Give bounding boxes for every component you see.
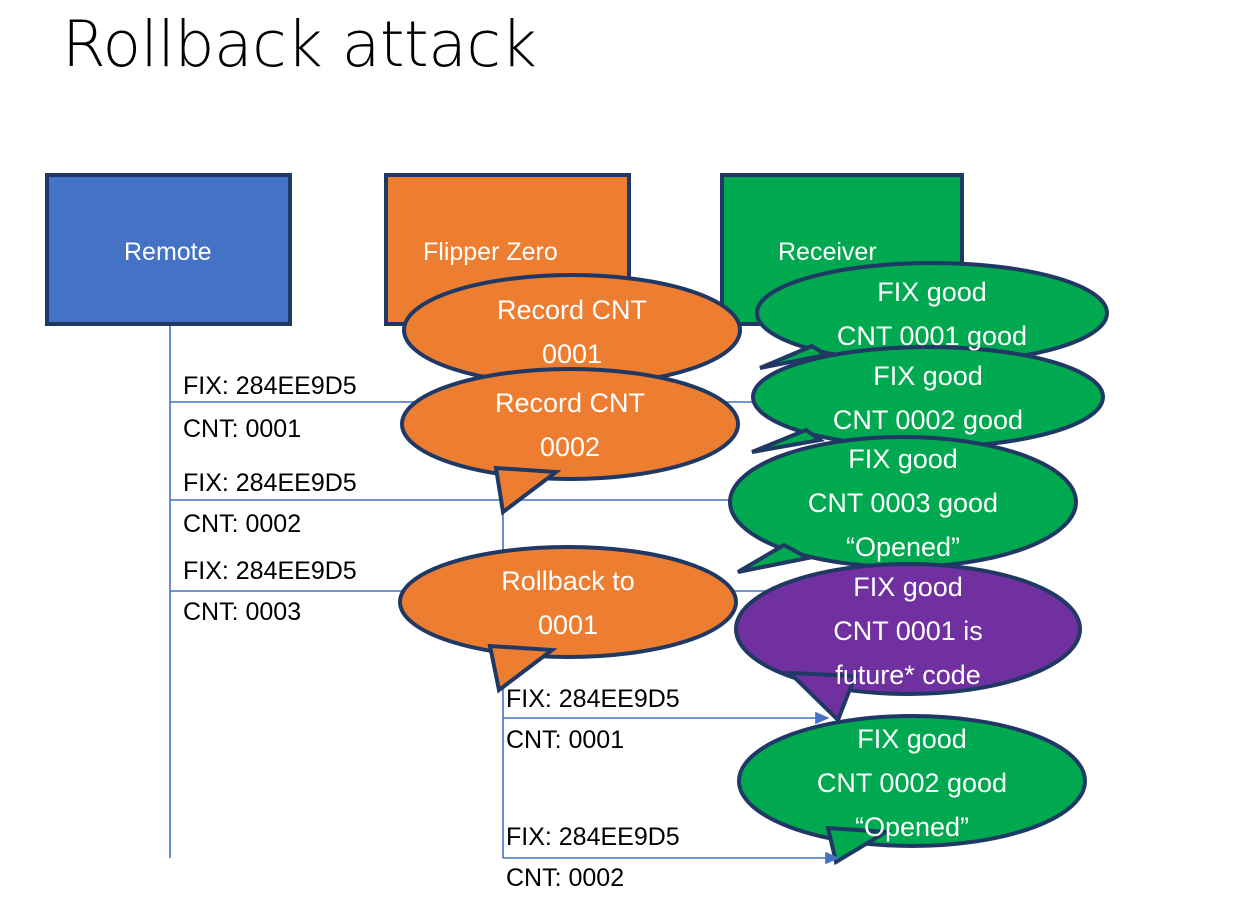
message-label-cnt-4: CNT: 0001 <box>506 726 624 755</box>
flipper-bubble-3[interactable] <box>400 547 736 690</box>
message-label-fix-5: FIX: 284EE9D5 <box>506 823 680 852</box>
message-label-fix-2: FIX: 284EE9D5 <box>183 469 357 498</box>
message-label-cnt-5: CNT: 0002 <box>506 864 624 893</box>
lane-label-receiver: Receiver <box>778 238 877 267</box>
message-label-fix-1: FIX: 284EE9D5 <box>183 372 357 401</box>
slide-canvas: Rollback attack Remote Flipper Zero Rece… <box>0 0 1233 898</box>
lane-label-remote: Remote <box>124 238 212 267</box>
message-label-cnt-2: CNT: 0002 <box>183 510 301 539</box>
flipper-bubble-2[interactable] <box>402 369 738 512</box>
message-label-cnt-1: CNT: 0001 <box>183 415 301 444</box>
receiver-bubble-3[interactable] <box>730 437 1076 572</box>
lane-label-flipper: Flipper Zero <box>423 238 558 267</box>
message-label-fix-4: FIX: 284EE9D5 <box>506 685 680 714</box>
message-label-cnt-3: CNT: 0003 <box>183 598 301 627</box>
page-title: Rollback attack <box>62 8 536 81</box>
receiver-bubble-4[interactable] <box>736 564 1080 720</box>
receiver-bubble-5[interactable] <box>739 716 1085 862</box>
message-label-fix-3: FIX: 284EE9D5 <box>183 557 357 586</box>
diagram-vector-layer <box>0 0 1233 898</box>
